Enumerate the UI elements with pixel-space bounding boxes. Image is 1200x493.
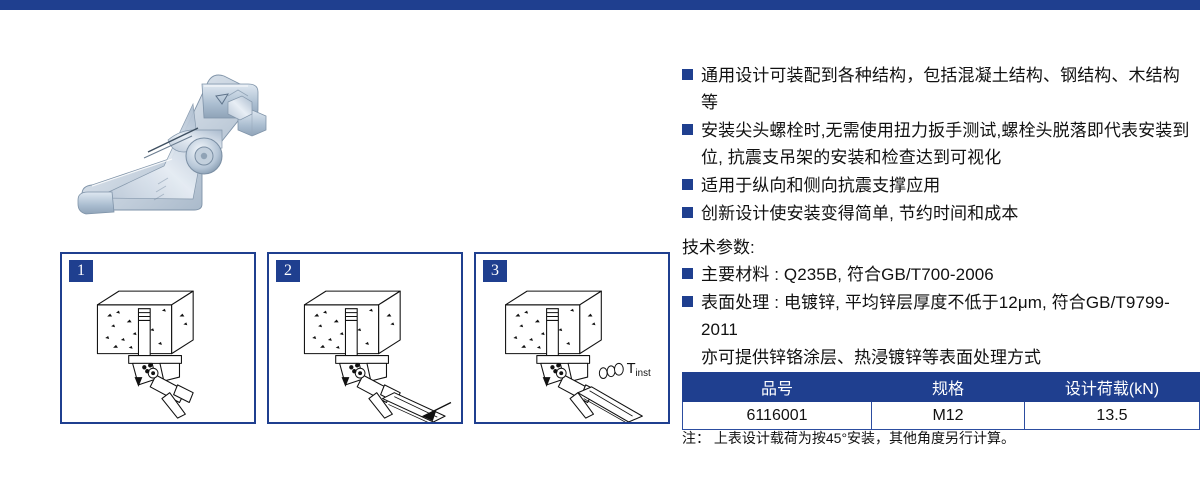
table-header-row: 品号 规格 设计荷载(kN) — [683, 373, 1200, 402]
tech-spec-extra-note: 亦可提供锌铬涂层、热浸镀锌等表面处理方式 — [701, 344, 1194, 371]
square-bullet-icon — [682, 124, 693, 135]
spec-table: 品号 规格 设计荷载(kN) 6116001 M12 13.5 — [682, 372, 1200, 430]
installation-steps: 1 — [60, 252, 672, 424]
tech-spec-item: 表面处理 : 电镀锌, 平均锌层厚度不低于12μm, 符合GB/T9799-20… — [682, 289, 1194, 343]
table-row: 6116001 M12 13.5 — [683, 402, 1200, 430]
product-photo — [52, 44, 284, 228]
feature-text: 创新设计使安装变得简单, 节约时间和成本 — [701, 200, 1194, 227]
table-header-cell: 规格 — [872, 373, 1025, 402]
tech-spec-item: 主要材料 : Q235B, 符合GB/T700-2006 — [682, 261, 1194, 288]
tech-spec-list: 主要材料 : Q235B, 符合GB/T700-2006 表面处理 : 电镀锌,… — [682, 261, 1194, 371]
feature-item: 通用设计可装配到各种结构，包括混凝土结构、钢结构、木结构等 — [682, 62, 1194, 116]
step-1-illustration — [62, 254, 254, 422]
square-bullet-icon — [682, 69, 693, 80]
square-bullet-icon — [682, 207, 693, 218]
tech-params-heading: 技术参数: — [682, 234, 755, 261]
table-header-cell: 设计荷载(kN) — [1025, 373, 1200, 402]
feature-item: 安装尖头螺栓时,无需使用扭力扳手测试,螺栓头脱落即代表安装到位, 抗震支吊架的安… — [682, 117, 1194, 171]
feature-item: 创新设计使安装变得简单, 节约时间和成本 — [682, 200, 1194, 227]
square-bullet-icon — [682, 296, 693, 307]
square-bullet-icon — [682, 179, 693, 190]
table-cell-spec: M12 — [872, 402, 1025, 430]
step-panel-2: 2 — [267, 252, 463, 424]
table-header-cell: 品号 — [683, 373, 872, 402]
feature-text: 安装尖头螺栓时,无需使用扭力扳手测试,螺栓头脱落即代表安装到位, 抗震支吊架的安… — [701, 117, 1194, 171]
step-2-illustration — [269, 254, 461, 422]
feature-text: 通用设计可装配到各种结构，包括混凝土结构、钢结构、木结构等 — [701, 62, 1194, 116]
step-panel-3: 3 — [474, 252, 670, 424]
square-bullet-icon — [682, 268, 693, 279]
tech-spec-text: 主要材料 : Q235B, 符合GB/T700-2006 — [701, 261, 1194, 288]
tech-spec-text: 表面处理 : 电镀锌, 平均锌层厚度不低于12μm, 符合GB/T9799-20… — [701, 289, 1194, 343]
step-panel-1: 1 — [60, 252, 256, 424]
feature-text: 适用于纵向和侧向抗震支撑应用 — [701, 172, 1194, 199]
table-cell-design-load: 13.5 — [1025, 402, 1200, 430]
step-3-illustration: T inst — [476, 254, 668, 422]
feature-item: 适用于纵向和侧向抗震支撑应用 — [682, 172, 1194, 199]
svg-text:inst: inst — [635, 368, 650, 379]
top-accent-bar — [0, 0, 1200, 10]
svg-text:T: T — [627, 361, 636, 377]
table-footnote: 注： 上表设计载荷为按45°安装，其他角度另行计算。 — [682, 428, 1015, 448]
feature-list: 通用设计可装配到各种结构，包括混凝土结构、钢结构、木结构等 安装尖头螺栓时,无需… — [682, 62, 1194, 228]
table-cell-part-number: 6116001 — [683, 402, 872, 430]
